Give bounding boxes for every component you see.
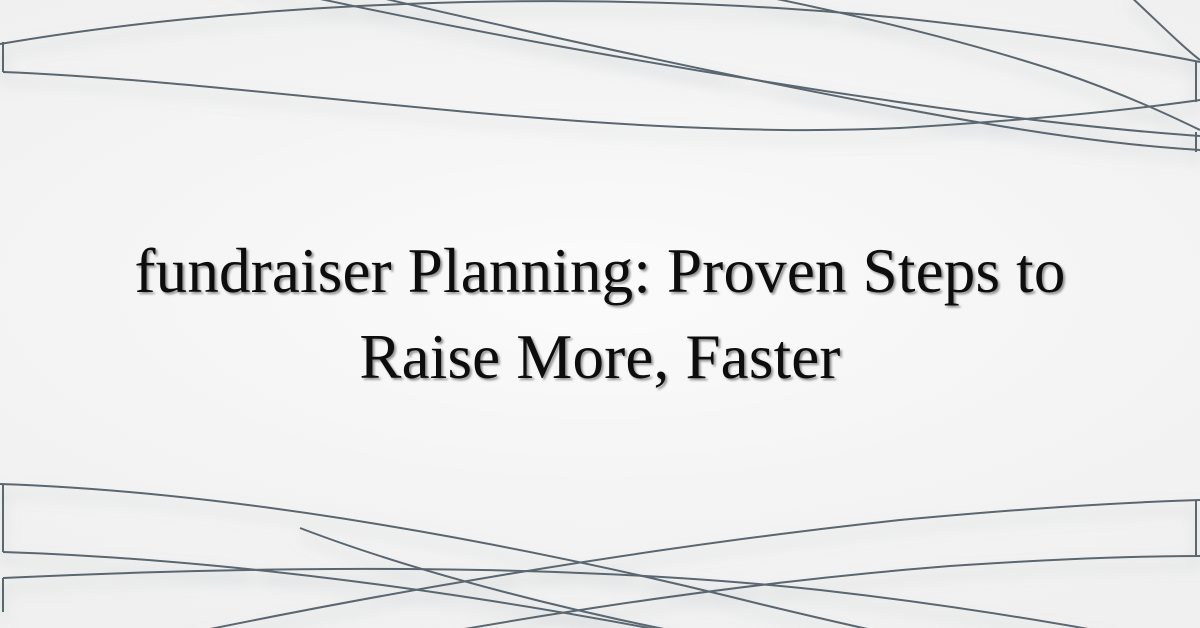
page-title: fundraiser Planning: Proven Steps to Rai… <box>95 228 1105 401</box>
social-share-card: fundraiser Planning: Proven Steps to Rai… <box>0 0 1200 628</box>
title-container: fundraiser Planning: Proven Steps to Rai… <box>0 0 1200 628</box>
